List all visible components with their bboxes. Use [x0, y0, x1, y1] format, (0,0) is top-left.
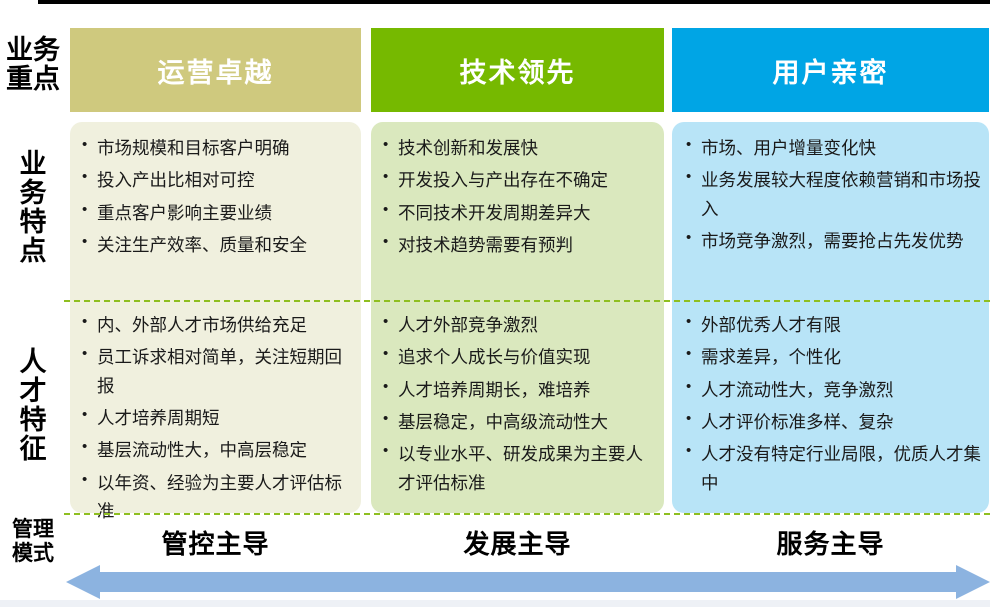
- list-item: 以年资、经验为主要人才评估标准: [82, 469, 354, 526]
- management-mode-label: 发展主导: [463, 529, 571, 559]
- list-item: 业务发展较大程度依赖营销和市场投入: [686, 166, 982, 223]
- list-item: 不同技术开发周期差异大: [383, 199, 659, 227]
- column-header-technology-leadership[interactable]: 技术领先: [371, 28, 664, 112]
- row-label-business-focus: 业务 重点: [0, 36, 66, 94]
- row-label-char: 特: [0, 208, 66, 237]
- top-rule: [38, 0, 990, 4]
- column-header-label: 运营卓越: [158, 51, 274, 90]
- list-item: 员工诉求相对简单，关注短期回报: [82, 343, 354, 400]
- list-item: 基层流动性大，中高层稳定: [82, 436, 354, 464]
- list-item: 人才培养周期短: [82, 404, 354, 432]
- row-label-char: 业: [0, 150, 66, 179]
- talent-traits-list-col2: 外部优秀人才有限 需求差异，个性化 人才流动性大，竞争激烈 人才评价标准多样、复…: [686, 311, 982, 501]
- list-item: 以专业水平、研发成果为主要人才评估标准: [383, 440, 659, 497]
- business-traits-list-col1: 技术创新和发展快 开发投入与产出存在不确定 不同技术开发周期差异大 对技术趋势需…: [383, 134, 659, 263]
- column-header-customer-intimacy[interactable]: 用户亲密: [672, 28, 989, 112]
- list-item: 内、外部人才市场供给充足: [82, 311, 354, 339]
- list-item: 人才评价标准多样、复杂: [686, 408, 982, 436]
- management-mode-col1: 发展主导: [371, 524, 664, 561]
- bottom-strip: [0, 600, 990, 607]
- row-label-line: 业务: [0, 36, 66, 65]
- row-label-talent-traits: 人 才 特 征: [0, 348, 66, 465]
- management-mode-col0: 管控主导: [70, 524, 361, 561]
- management-mode-col2: 服务主导: [672, 524, 989, 561]
- double-headed-arrow: [66, 565, 990, 599]
- column-header-operational-excellence[interactable]: 运营卓越: [70, 28, 361, 112]
- row-label-char: 征: [0, 435, 66, 464]
- list-item: 人才培养周期长，难培养: [383, 376, 659, 404]
- business-traits-list-col0: 市场规模和目标客户明确 投入产出比相对可控 重点客户影响主要业绩 关注生产效率、…: [82, 134, 354, 263]
- list-item: 对技术趋势需要有预判: [383, 231, 659, 259]
- row-label-char: 务: [0, 179, 66, 208]
- list-item: 市场竞争激烈，需要抢占先发优势: [686, 227, 982, 255]
- list-item: 外部优秀人才有限: [686, 311, 982, 339]
- row-label-char: 人: [0, 348, 66, 377]
- list-item: 市场、用户增量变化快: [686, 134, 982, 162]
- list-item: 市场规模和目标客户明确: [82, 134, 354, 162]
- row-label-char: 特: [0, 406, 66, 435]
- row-label-line: 管理: [0, 518, 66, 542]
- talent-traits-list-col0: 内、外部人才市场供给充足 员工诉求相对简单，关注短期回报 人才培养周期短 基层流…: [82, 311, 354, 529]
- business-traits-list-col2: 市场、用户增量变化快 业务发展较大程度依赖营销和市场投入 市场竞争激烈，需要抢占…: [686, 134, 982, 259]
- row-label-char: 点: [0, 237, 66, 266]
- column-header-label: 用户亲密: [773, 51, 889, 90]
- list-item: 重点客户影响主要业绩: [82, 199, 354, 227]
- column-header-label: 技术领先: [460, 51, 576, 90]
- row-label-business-traits: 业 务 特 点: [0, 150, 66, 267]
- row-label-line: 重点: [0, 65, 66, 94]
- list-item: 需求差异，个性化: [686, 343, 982, 371]
- list-item: 开发投入与产出存在不确定: [383, 166, 659, 194]
- diagram-canvas: 业务 重点 业 务 特 点 人 才 特 征 管理 模式 运营卓越 技术领先 用户…: [0, 0, 990, 607]
- list-item: 人才外部竞争激烈: [383, 311, 659, 339]
- list-item: 投入产出比相对可控: [82, 166, 354, 194]
- section-divider-middle: [64, 300, 990, 302]
- management-mode-label: 管控主导: [161, 529, 269, 559]
- management-mode-label: 服务主导: [776, 529, 884, 559]
- list-item: 追求个人成长与价值实现: [383, 343, 659, 371]
- list-item: 人才没有特定行业局限，优质人才集中: [686, 440, 982, 497]
- list-item: 关注生产效率、质量和安全: [82, 231, 354, 259]
- section-divider-bottom: [64, 513, 990, 515]
- row-label-line: 模式: [0, 542, 66, 566]
- list-item: 人才流动性大，竞争激烈: [686, 376, 982, 404]
- talent-traits-list-col1: 人才外部竞争激烈 追求个人成长与价值实现 人才培养周期长，难培养 基层稳定，中高…: [383, 311, 659, 501]
- list-item: 基层稳定，中高级流动性大: [383, 408, 659, 436]
- row-label-char: 才: [0, 377, 66, 406]
- list-item: 技术创新和发展快: [383, 134, 659, 162]
- row-label-management-mode: 管理 模式: [0, 518, 66, 565]
